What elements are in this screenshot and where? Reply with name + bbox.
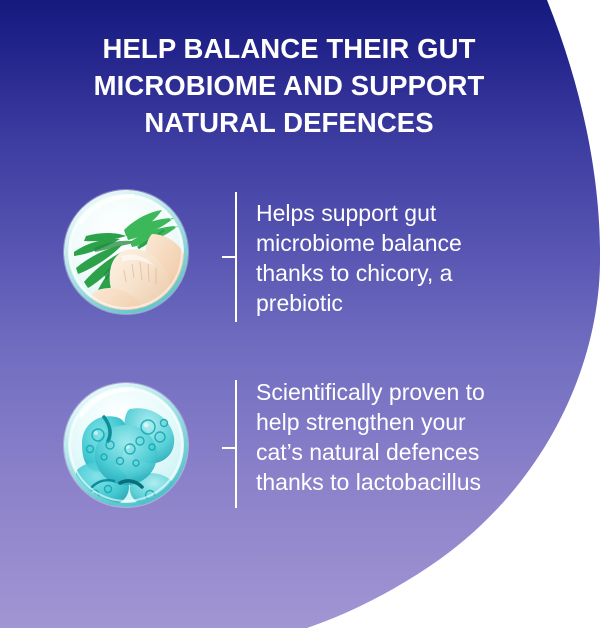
page-title: HELP BALANCE THEIR GUT MICROBIOME AND SU… xyxy=(50,30,528,141)
benefit-text: Helps support gut microbiome balance tha… xyxy=(256,198,518,318)
promo-poster: HELP BALANCE THEIR GUT MICROBIOME AND SU… xyxy=(0,0,600,628)
benefit-connector-line xyxy=(222,375,238,525)
benefit-row: Scientifically proven to help strengthen… xyxy=(0,375,600,525)
benefit-row: Helps support gut microbiome balance tha… xyxy=(0,182,600,332)
connector-tick-mark xyxy=(222,447,237,449)
connector-vertical-rule xyxy=(235,380,237,508)
benefit-connector-line xyxy=(222,182,238,332)
benefit-text: Scientifically proven to help strengthen… xyxy=(256,377,518,497)
chicory-root-petri-dish-icon xyxy=(64,190,188,314)
connector-tick-mark xyxy=(222,256,237,258)
lactobacillus-culture-petri-dish-icon xyxy=(64,383,188,507)
